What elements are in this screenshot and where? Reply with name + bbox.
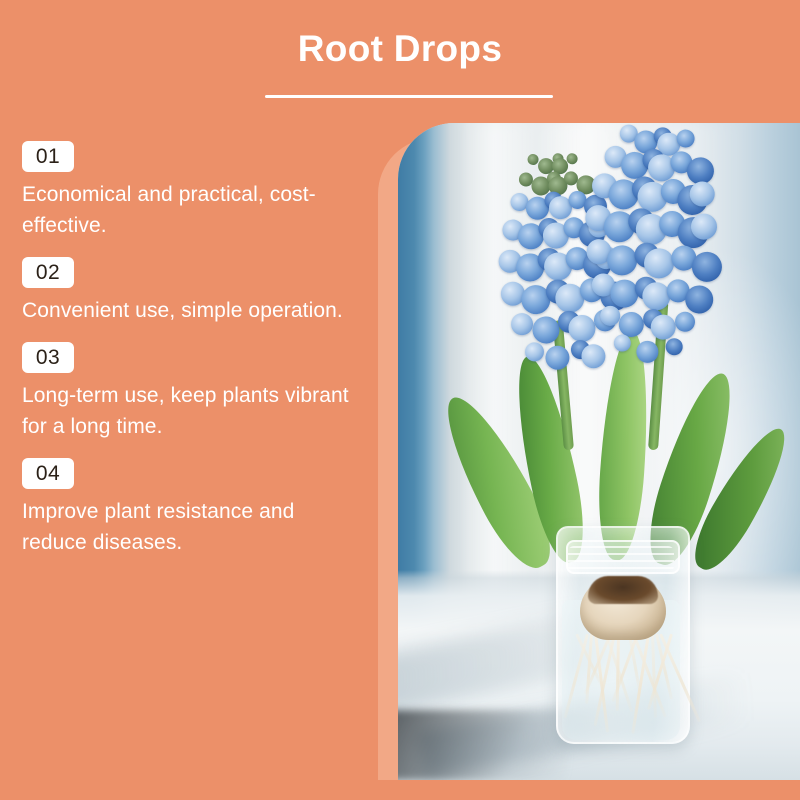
flower-bud-icon	[566, 153, 578, 165]
floret-icon	[636, 340, 659, 363]
list-item: 01 Economical and practical, cost-effect…	[22, 141, 372, 241]
poster-header: Root Drops	[0, 0, 800, 122]
floret-icon	[643, 248, 675, 280]
floret-icon	[613, 334, 631, 352]
floret-icon	[690, 213, 717, 240]
feature-text: Long-term use, keep plants vibrant for a…	[22, 380, 362, 442]
feature-text: Convenient use, simple operation.	[22, 295, 362, 326]
floret-icon	[675, 311, 696, 332]
floret-icon	[676, 129, 695, 148]
floret-icon	[650, 314, 676, 340]
hyacinth-flower-icon	[584, 127, 722, 363]
feature-number-badge: 03	[22, 342, 74, 373]
floret-icon	[600, 305, 621, 326]
jar-threads	[568, 546, 674, 572]
poster-canvas: Root Drops 01 Economical and practical, …	[0, 0, 800, 800]
sill-dark-corner	[398, 710, 568, 780]
floret-icon	[532, 316, 561, 345]
feature-number-badge: 02	[22, 257, 74, 288]
floret-icon	[665, 338, 683, 356]
feature-number-badge: 01	[22, 141, 74, 172]
plant-roots-icon	[564, 634, 680, 738]
product-photo	[398, 123, 800, 780]
list-item: 04 Improve plant resistance and reduce d…	[22, 458, 372, 558]
floret-icon	[606, 245, 638, 277]
floret-icon	[609, 279, 638, 308]
list-item: 03 Long-term use, keep plants vibrant fo…	[22, 342, 372, 442]
feature-number-badge: 04	[22, 458, 74, 489]
list-item: 02 Convenient use, simple operation.	[22, 257, 372, 326]
flower-bud-icon	[527, 154, 539, 166]
page-title: Root Drops	[0, 26, 800, 72]
root-strand	[564, 634, 589, 719]
feature-list: 01 Economical and practical, cost-effect…	[22, 141, 372, 558]
title-divider	[265, 95, 553, 98]
floret-icon	[510, 312, 533, 335]
feature-text: Economical and practical, cost-effective…	[22, 179, 362, 241]
bulb-base-soil	[588, 576, 658, 604]
floret-icon	[524, 342, 544, 362]
floret-icon	[684, 285, 713, 314]
floret-icon	[545, 345, 571, 371]
feature-text: Improve plant resistance and reduce dise…	[22, 496, 362, 558]
